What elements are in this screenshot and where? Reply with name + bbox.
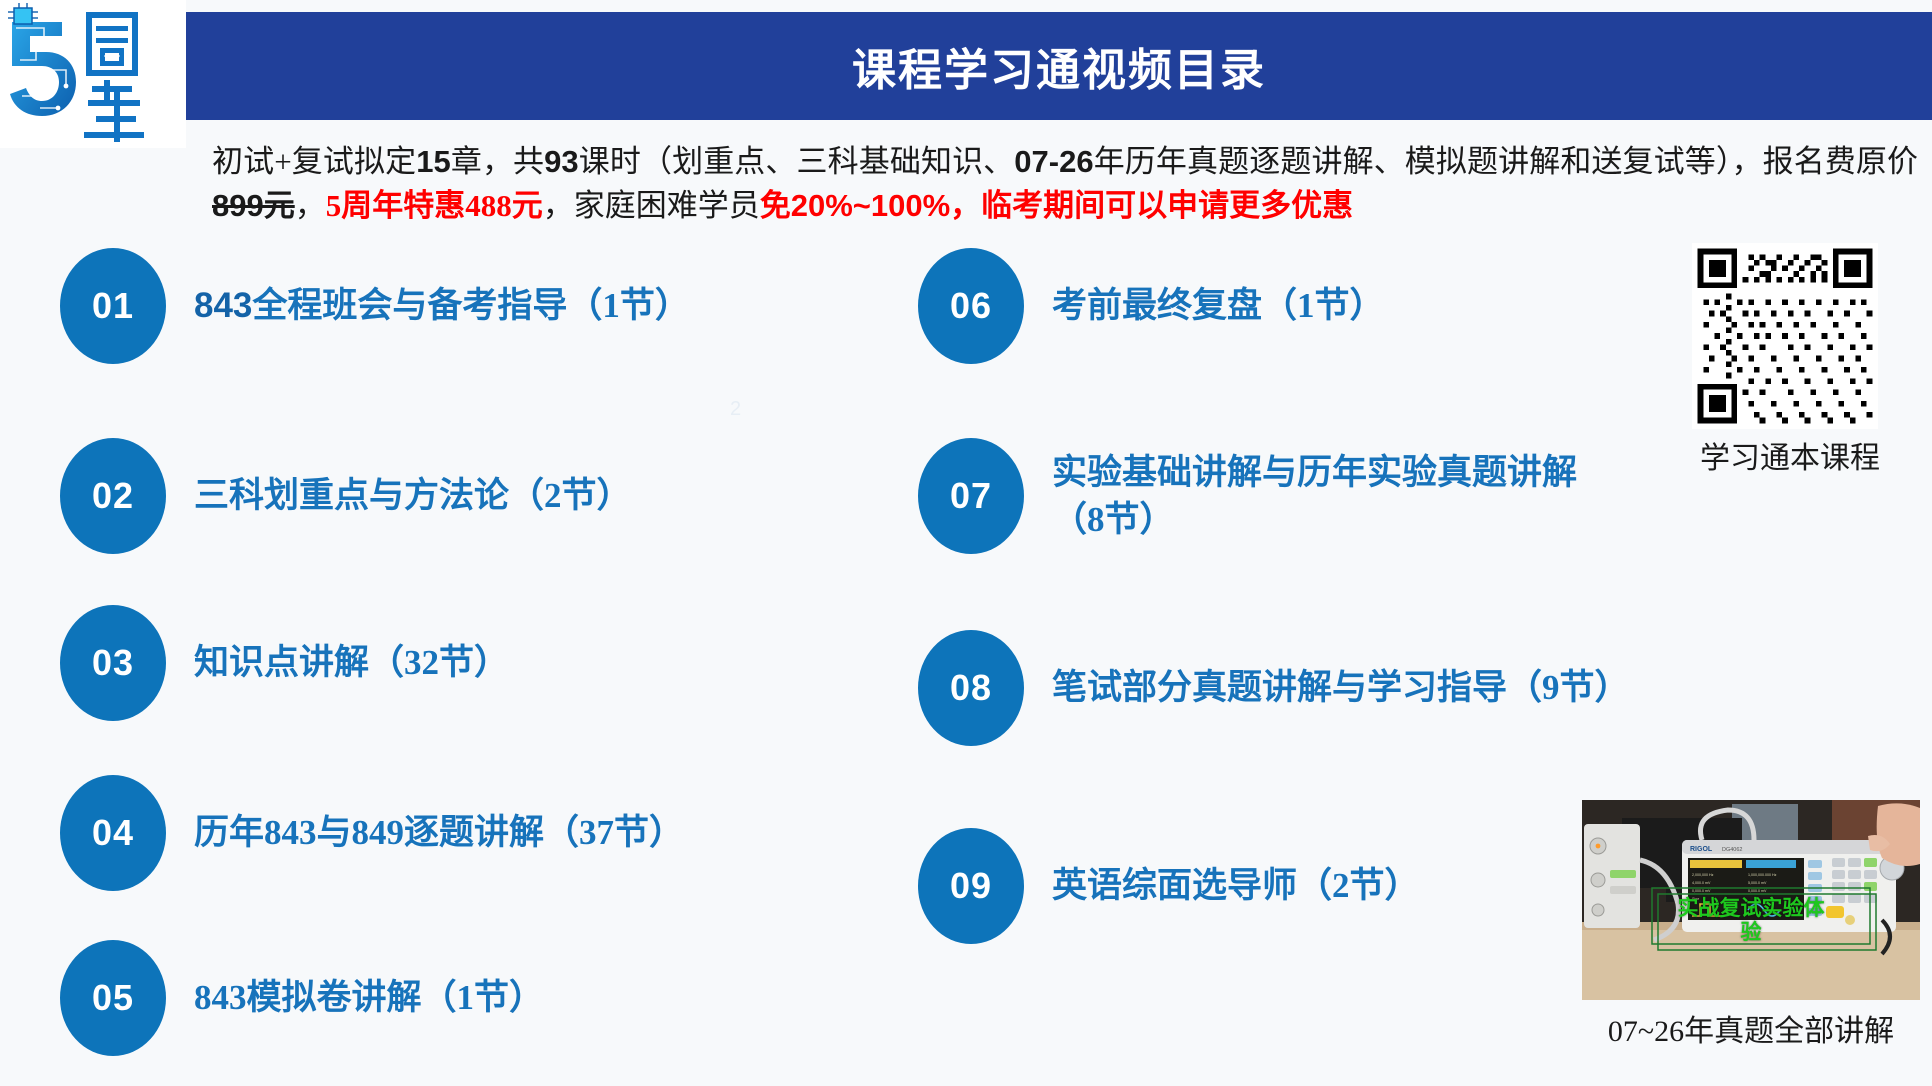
course-item-07[interactable]: 07 实验基础讲解与历年实验真题讲解（8节） xyxy=(918,438,1618,554)
intro-chapters: 15 xyxy=(416,144,450,179)
page-title: 课程学习通视频目录 xyxy=(852,34,1266,98)
intro-part7: 临考期间可以申请更多优惠 xyxy=(981,188,1353,223)
course-item-number: 05 xyxy=(60,940,166,1056)
svg-text:0,000.0 mV: 0,000.0 mV xyxy=(1692,889,1711,893)
course-item-label: 843模拟卷讲解（1节） xyxy=(194,974,544,1021)
slide-root: 课程学习通视频目录 初试+复试拟定15章，共93课时（划重点、三科基础知识、07… xyxy=(0,0,1932,1086)
course-item-label: 实验基础讲解与历年实验真题讲解（8节） xyxy=(1052,449,1618,544)
course-item-01[interactable]: 01 843全程班会与备考指导（1节） xyxy=(60,248,690,364)
anniversary-logo xyxy=(0,0,186,148)
photo-block: RIGOL DG4062 2,000,000 Hz 4,000.0 mV 0,0… xyxy=(1582,800,1920,1050)
course-item-09[interactable]: 09 英语综面选导师（2节） xyxy=(918,828,1420,944)
course-item-number: 09 xyxy=(918,828,1024,944)
lab-equipment-photo: RIGOL DG4062 2,000,000 Hz 4,000.0 mV 0,0… xyxy=(1582,800,1920,1000)
svg-text:2,000,000 Hz: 2,000,000 Hz xyxy=(1692,873,1714,877)
course-item-05[interactable]: 05 843模拟卷讲解（1节） xyxy=(60,940,544,1056)
course-item-text: 全程班会与备考指导（1节） xyxy=(252,286,690,325)
intro-hours: 93 xyxy=(544,144,578,179)
svg-text:4,000.0 mV: 4,000.0 mV xyxy=(1692,881,1711,885)
course-item-label: 知识点讲解（32节） xyxy=(194,639,509,686)
course-item-label: 笔试部分真题讲解与学习指导（9节） xyxy=(1052,664,1630,711)
page-number-watermark: 2 xyxy=(730,398,741,421)
intro-part3: 课时（划重点、三科基础知识、 xyxy=(579,144,1015,179)
intro-paragraph: 初试+复试拟定15章，共93课时（划重点、三科基础知识、07-26年历年真题逐题… xyxy=(212,140,1918,228)
course-item-number: 07 xyxy=(918,438,1024,554)
course-item-03[interactable]: 03 知识点讲解（32节） xyxy=(60,605,509,721)
course-item-number: 02 xyxy=(60,438,166,554)
five-year-circuit-logo xyxy=(0,0,186,148)
discount-badge: 免20%~100%， xyxy=(760,188,981,223)
intro-part5: ， xyxy=(295,188,326,223)
course-item-label: 843全程班会与备考指导（1节） xyxy=(194,282,690,329)
svg-text:5,000.0 mV: 5,000.0 mV xyxy=(1748,881,1767,885)
qr-code-icon[interactable] xyxy=(1692,243,1878,429)
course-item-label: 考前最终复盘（1节） xyxy=(1052,282,1385,329)
course-item-08[interactable]: 08 笔试部分真题讲解与学习指导（9节） xyxy=(918,630,1678,746)
course-item-number: 03 xyxy=(60,605,166,721)
promo-price: 5周年特惠488元 xyxy=(326,188,543,223)
qr-caption: 学习通本课程 xyxy=(1692,433,1888,477)
svg-text:1,000,000.000 Hz: 1,000,000.000 Hz xyxy=(1748,873,1777,877)
course-item-number: 06 xyxy=(918,248,1024,364)
svg-text:DG4062: DG4062 xyxy=(1722,847,1743,853)
intro-part1: 初试+复试拟定 xyxy=(212,144,416,179)
intro-part4: 年历年真题逐题讲解、模拟题讲解和送复试等），报名费原价 xyxy=(1094,144,1918,179)
original-price: 899元 xyxy=(212,188,295,223)
course-item-04[interactable]: 04 历年843与849逐题讲解（37节） xyxy=(60,775,684,891)
qr-block: 学习通本课程 xyxy=(1692,243,1888,477)
svg-text:Sine: Sine xyxy=(1692,897,1699,901)
course-code: 843 xyxy=(194,286,252,325)
course-item-label: 三科划重点与方法论（2节） xyxy=(194,472,632,519)
svg-text:0,000.0 mV: 0,000.0 mV xyxy=(1748,889,1767,893)
course-item-06[interactable]: 06 考前最终复盘（1节） xyxy=(918,248,1385,364)
header-bar: 课程学习通视频目录 xyxy=(186,12,1932,120)
intro-years: 07-26 xyxy=(1014,144,1093,179)
svg-text:RIGOL: RIGOL xyxy=(1690,846,1713,853)
lab-photo-illustration: RIGOL DG4062 2,000,000 Hz 4,000.0 mV 0,0… xyxy=(1582,800,1920,1000)
course-item-label: 英语综面选导师（2节） xyxy=(1052,862,1420,909)
course-item-number: 01 xyxy=(60,248,166,364)
course-item-number: 04 xyxy=(60,775,166,891)
photo-caption: 07~26年真题全部讲解 xyxy=(1582,1006,1920,1050)
intro-part6: ，家庭困难学员 xyxy=(543,188,760,223)
course-item-label: 历年843与849逐题讲解（37节） xyxy=(194,809,684,856)
course-item-02[interactable]: 02 三科划重点与方法论（2节） xyxy=(60,438,632,554)
intro-part2: 章，共 xyxy=(451,144,544,179)
course-item-number: 08 xyxy=(918,630,1024,746)
